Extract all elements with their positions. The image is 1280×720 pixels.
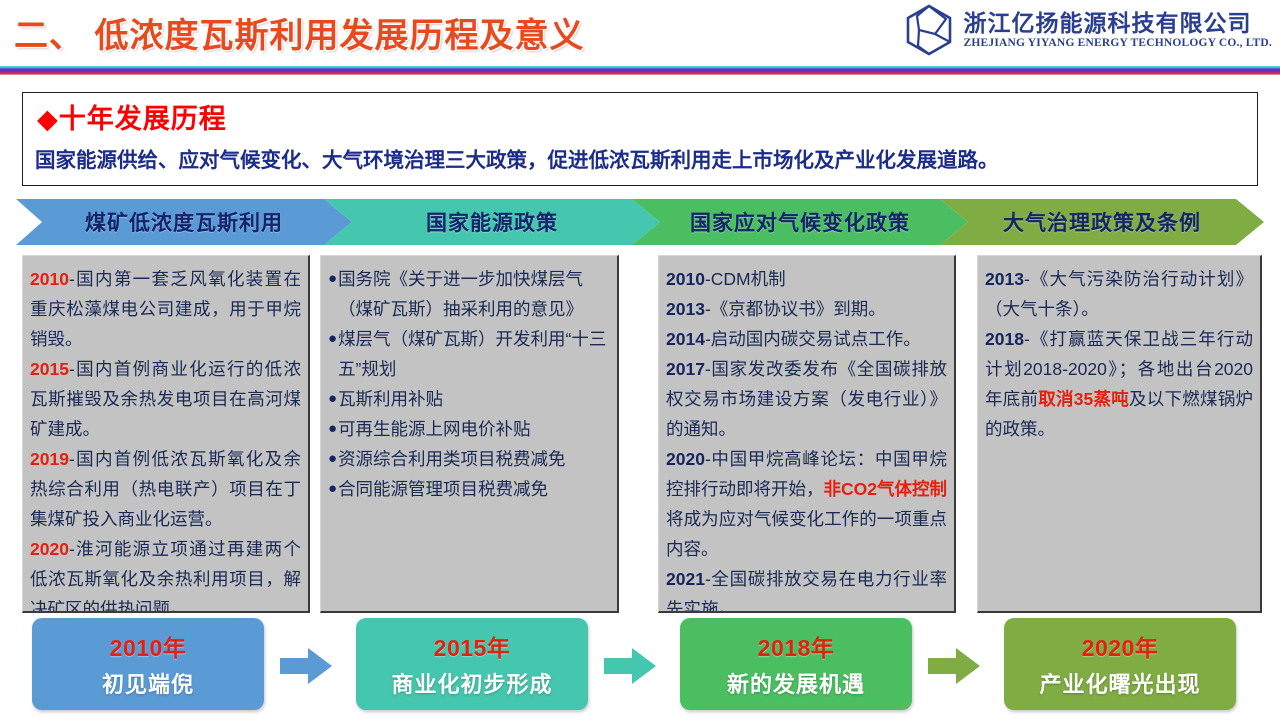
summary-body-text: 国家能源供给、应对气候变化、大气环境治理三大政策，促进低浓瓦斯利用走上市场化及产… [35,143,1245,173]
timeline-stage-row: 2010年 初见端倪 2015年 商业化初步形成 2018年 新的发展机遇 20… [0,618,1280,718]
flow-arrow-right-icon-2 [604,646,656,686]
stage-box-2020[interactable]: 2020年 产业化曙光出现 [1004,618,1236,710]
content-panel-3: 2010-CDM机制2013-《京都协议书》到期。2014-启动国内碳交易试点工… [658,255,956,613]
entry-text: -国内首例商业化运行的低浓瓦斯摧毁及余热发电项目在高河煤矿建成。 [30,359,301,439]
content-panels: 2010-国内第一套乏风氧化装置在重庆松藻煤电公司建成，用于甲烷销毁。2015-… [22,255,1262,613]
entry-text: -全国碳排放交易在电力行业率先实施。 [666,569,947,613]
hexagon-logo-icon [905,4,953,56]
chevron-category-2[interactable]: 国家能源政策 [324,199,660,245]
list-item-label: 瓦斯利用补贴 [338,384,610,414]
chevron-category-3[interactable]: 国家应对气候变化政策 [632,199,968,245]
stage-label-3: 新的发展机遇 [727,667,865,699]
stage-label-2: 商业化初步形成 [391,667,552,699]
summary-box: ◆十年发展历程 国家能源供给、应对气候变化、大气环境治理三大政策，促进低浓瓦斯利… [22,92,1258,186]
list-item-label: 可再生能源上网电价补贴 [338,414,610,444]
bullet-dot-icon: ● [328,264,337,294]
bullet-dot-icon: ● [328,324,337,354]
summary-heading: ◆十年发展历程 [37,97,227,136]
entry-text: -国内第一套乏风氧化装置在重庆松藻煤电公司建成，用于甲烷销毁。 [30,269,301,349]
list-item: ●瓦斯利用补贴 [328,384,610,414]
list-item-label: 国务院《关于进一步加快煤层气（煤矿瓦斯）抽采利用的意见》 [338,264,610,324]
bullet-dot-icon: ● [328,414,337,444]
header-divider [0,66,1280,75]
content-panel-4: 2013-《大气污染防治行动计划》（大气十条）。2018-《打赢蓝天保卫战三年行… [977,255,1262,613]
stage-label-1: 初见端倪 [102,667,194,699]
panel-4-entries: 2013-《大气污染防治行动计划》（大气十条）。2018-《打赢蓝天保卫战三年行… [985,264,1253,444]
entry-text: -《大气污染防治行动计划》（大气十条）。 [985,269,1253,319]
category-chevron-banner: 煤矿低浓度瓦斯利用 国家能源政策 国家应对气候变化政策 大气治理政策及条例 [16,199,1264,245]
stage-label-4: 产业化曙光出现 [1039,667,1200,699]
list-item: ●资源综合利用类项目税费减免 [328,444,610,474]
entry-year: 2013 [985,269,1024,289]
list-item-label: 煤层气（煤矿瓦斯）开发利用“十三五”规划 [338,324,610,384]
entry-year: 2018 [985,329,1024,349]
stage-box-2018[interactable]: 2018年 新的发展机遇 [680,618,912,710]
entry-year: 2020 [30,539,69,559]
list-item-label: 资源综合利用类项目税费减免 [338,444,610,474]
entry-text: -国家发改委发布《全国碳排放权交易市场建设方案（发电行业）》的通知。 [666,359,947,439]
entry-year: 2014 [666,329,705,349]
list-item-label: 合同能源管理项目税费减免 [338,474,610,504]
bullet-dot-icon: ● [328,444,337,474]
content-panel-1: 2010-国内第一套乏风氧化装置在重庆松藻煤电公司建成，用于甲烷销毁。2015-… [22,255,310,613]
entry-year: 2019 [30,449,69,469]
entry-year: 2010 [30,269,69,289]
bullet-dot-icon: ● [328,384,337,414]
list-item: ●可再生能源上网电价补贴 [328,414,610,444]
entry-highlight: 取消35蒸吨 [1038,389,1129,409]
stage-year-3: 2018年 [758,629,835,663]
entry-text: -淮河能源立项通过再建两个低浓瓦斯氧化及余热利用项目，解决矿区的供热问题。 [30,539,301,613]
chevron-category-4[interactable]: 大气治理政策及条例 [940,199,1264,245]
stage-box-2015[interactable]: 2015年 商业化初步形成 [356,618,588,710]
entry-text: -CDM机制 [705,269,786,289]
flow-arrow-right-icon-3 [928,646,980,686]
entry-year: 2021 [666,569,705,589]
entry-text: -国内首例低浓瓦斯氧化及余热综合利用（热电联产）项目在丁集煤矿投入商业化运营。 [30,449,301,529]
chevron-label-4: 大气治理政策及条例 [1003,207,1201,237]
content-panel-2: ●国务院《关于进一步加快煤层气（煤矿瓦斯）抽采利用的意见》●煤层气（煤矿瓦斯）开… [320,255,619,613]
chevron-category-1[interactable]: 煤矿低浓度瓦斯利用 [16,199,352,245]
entry-year: 2020 [666,449,705,469]
company-logo: 浙江亿扬能源科技有限公司 ZHEJIANG YIYANG ENERGY TECH… [905,4,1272,56]
stage-year-2: 2015年 [434,629,511,663]
entry-text: -《京都协议书》到期。 [705,299,886,319]
stage-year-1: 2010年 [110,629,187,663]
list-item: ●合同能源管理项目税费减免 [328,474,610,504]
entry-year: 2015 [30,359,69,379]
logo-company-name-en: ZHEJIANG YIYANG ENERGY TECHNOLOGY CO., L… [963,37,1272,49]
stage-box-2010[interactable]: 2010年 初见端倪 [32,618,264,710]
list-item: ●煤层气（煤矿瓦斯）开发利用“十三五”规划 [328,324,610,384]
chevron-label-1: 煤矿低浓度瓦斯利用 [85,207,283,237]
stage-year-4: 2020年 [1082,629,1159,663]
chevron-label-3: 国家应对气候变化政策 [690,207,910,237]
entry-highlight: 非CO2气体控制 [824,479,948,499]
entry-year: 2010 [666,269,705,289]
bullet-dot-icon: ● [328,474,337,504]
list-item: ●国务院《关于进一步加快煤层气（煤矿瓦斯）抽采利用的意见》 [328,264,610,324]
entry-text: -启动国内碳交易试点工作。 [705,329,921,349]
flow-arrow-right-icon-1 [280,646,332,686]
logo-company-name-cn: 浙江亿扬能源科技有限公司 [963,11,1272,35]
entry-year: 2013 [666,299,705,319]
panel-1-entries: 2010-国内第一套乏风氧化装置在重庆松藻煤电公司建成，用于甲烷销毁。2015-… [30,264,301,613]
entry-text: 将成为应对气候变化工作的一项重点内容。 [666,509,947,559]
panel-2-bullet-list: ●国务院《关于进一步加快煤层气（煤矿瓦斯）抽采利用的意见》●煤层气（煤矿瓦斯）开… [328,264,610,504]
chevron-label-2: 国家能源政策 [426,207,558,237]
slide-header: 二、 低浓度瓦斯利用发展历程及意义 浙江亿扬能源科技有限公司 ZHEJIANG … [0,0,1280,68]
page-title: 二、 低浓度瓦斯利用发展历程及意义 [14,8,584,57]
panel-3-entries: 2010-CDM机制2013-《京都协议书》到期。2014-启动国内碳交易试点工… [666,264,947,613]
entry-year: 2017 [666,359,705,379]
